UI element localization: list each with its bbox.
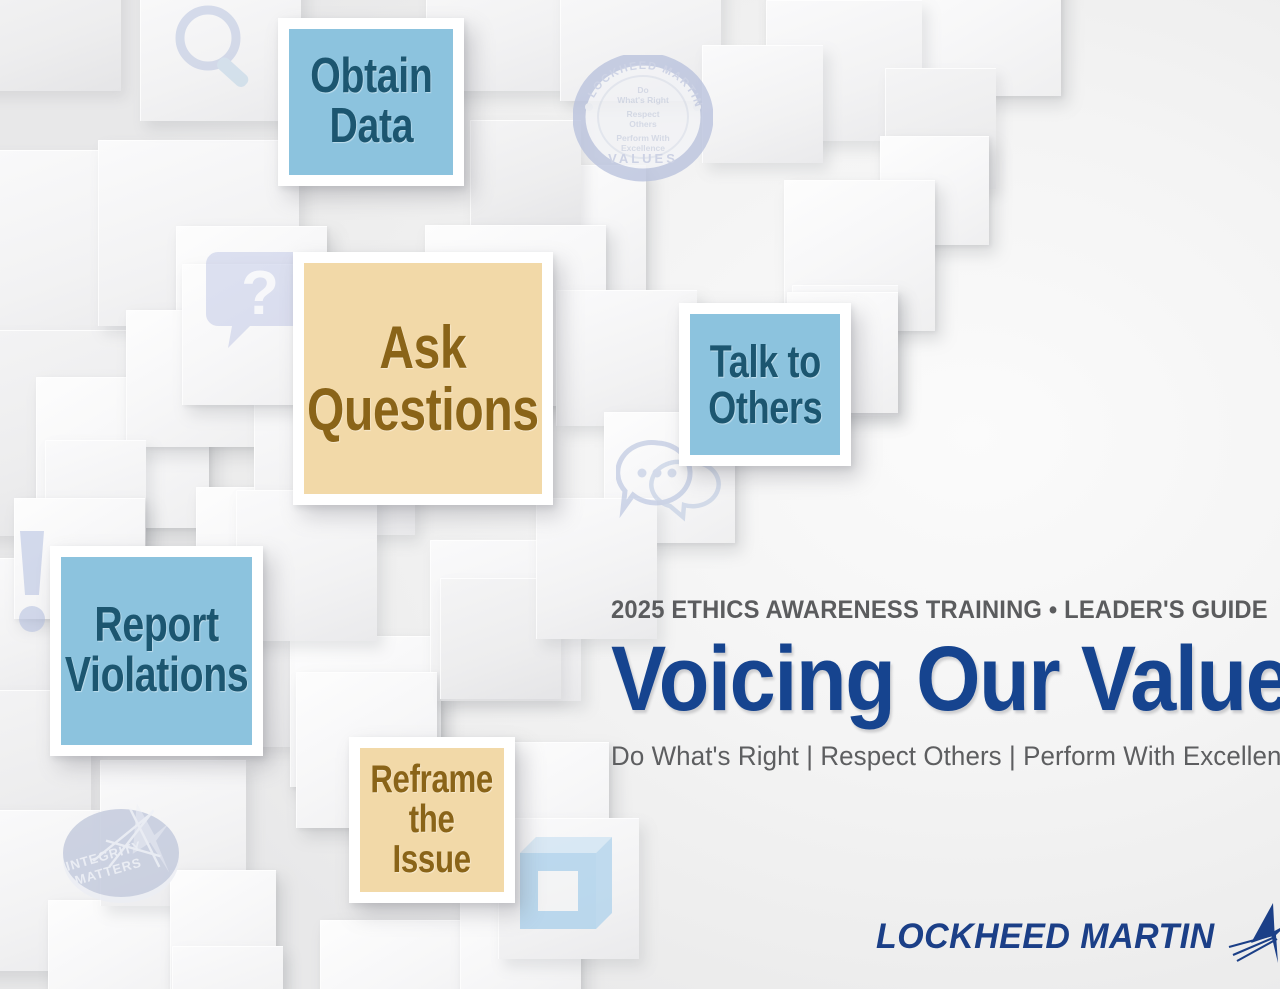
tile-label: Report Violations — [65, 601, 248, 701]
tile-label: Reframe the Issue — [371, 760, 494, 879]
tile-talk-to-others[interactable]: Talk to Others — [679, 303, 851, 466]
background-square — [48, 900, 179, 989]
background-square — [702, 45, 823, 163]
svg-text:Respect: Respect — [626, 109, 659, 119]
eyebrow-text: 2025 ETHICS AWARENESS TRAINING • LEADER'… — [611, 596, 1219, 625]
tile-obtain-data[interactable]: Obtain Data — [278, 18, 464, 186]
svg-text:VALUES: VALUES — [608, 151, 678, 166]
background-square — [320, 920, 461, 989]
tile-report-violations[interactable]: Report Violations — [50, 546, 263, 756]
tile-face: Obtain Data — [289, 29, 453, 175]
svg-text:What's Right: What's Right — [617, 95, 669, 105]
background-square — [172, 946, 283, 989]
tile-face: Talk to Others — [690, 314, 840, 455]
title-block: 2025 ETHICS AWARENESS TRAINING • LEADER'… — [611, 596, 1251, 772]
logo-wordmark: LOCKHEED MARTIN — [876, 917, 1215, 957]
svg-text:?: ? — [241, 259, 279, 328]
tile-reframe-the-issue[interactable]: Reframe the Issue — [349, 737, 515, 903]
svg-text:Perform With: Perform With — [616, 133, 669, 143]
background-square — [0, 0, 121, 91]
background-square — [556, 290, 697, 426]
integrity-coin: INTEGRITY MATTERS — [58, 793, 188, 909]
lockheed-martin-logo: LOCKHEED MARTIN — [876, 903, 1280, 970]
background-square — [470, 120, 581, 231]
search-icon — [166, 0, 270, 102]
tile-face: Ask Questions — [304, 263, 542, 494]
svg-text:Others: Others — [629, 119, 657, 129]
tile-face: Report Violations — [61, 557, 252, 745]
values-coin: LOCKHEED MARTIN VALUES Do What's Right R… — [573, 55, 713, 185]
tile-face: Reframe the Issue — [360, 748, 504, 892]
tile-label: Talk to Others — [708, 339, 822, 431]
page-title: Voicing Our Values — [611, 633, 1187, 725]
tile-label: Obtain Data — [310, 52, 432, 152]
tagline-text: Do What's Right | Respect Others | Perfo… — [611, 741, 1225, 772]
lockheed-star-icon — [1227, 903, 1280, 970]
cover-page: ? — [0, 0, 1280, 989]
cube-frame-icon — [512, 829, 620, 937]
svg-text:Excellence: Excellence — [621, 143, 665, 153]
tile-ask-questions[interactable]: Ask Questions — [293, 252, 553, 505]
tile-label: Ask Questions — [307, 317, 539, 439]
svg-text:Do: Do — [637, 85, 648, 95]
